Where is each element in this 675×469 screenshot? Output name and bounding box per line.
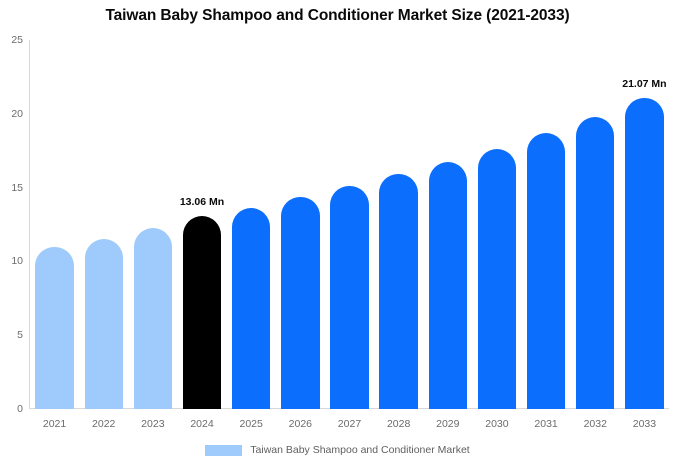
page-title: Taiwan Baby Shampoo and Conditioner Mark… [0,7,675,25]
x-tick-label: 2024 [190,418,213,430]
bar-group: 2030 [478,40,516,409]
x-tick-label: 2033 [633,418,656,430]
bar-group: 2029 [429,40,467,409]
y-tick-label: 15 [11,182,23,194]
y-tick-label: 25 [11,34,23,46]
legend-label: Taiwan Baby Shampoo and Conditioner Mark… [250,444,469,456]
bar-group: 2023 [134,40,172,409]
plot-area: 0510152025 20212022202313.06 Mn202420252… [29,40,669,409]
bar-group: 2031 [527,40,565,409]
bar-group: 13.06 Mn2024 [183,40,221,409]
bar[interactable] [232,208,270,409]
x-tick-label: 2023 [141,418,164,430]
x-tick-label: 2031 [534,418,557,430]
bar-group: 2022 [85,40,123,409]
bar-group: 2028 [379,40,417,409]
legend-entry[interactable]: Taiwan Baby Shampoo and Conditioner Mark… [205,444,469,456]
bar-chart: Taiwan Baby Shampoo and Conditioner Mark… [0,0,675,469]
bar-group: 2032 [576,40,614,409]
bar-group: 2027 [330,40,368,409]
bar[interactable] [134,228,172,409]
bar-group: 2025 [232,40,270,409]
x-tick-label: 2029 [436,418,459,430]
x-tick-label: 2028 [387,418,410,430]
bar-group: 21.07 Mn2033 [625,40,663,409]
x-tick-label: 2022 [92,418,115,430]
bar[interactable] [429,162,467,409]
bar[interactable] [281,197,319,409]
bar[interactable] [625,98,663,409]
y-tick-label: 0 [17,403,23,415]
bar[interactable] [330,186,368,409]
legend-swatch [205,445,242,456]
x-tick-label: 2030 [485,418,508,430]
y-tick-label: 5 [17,329,23,341]
bar[interactable] [379,174,417,409]
bar[interactable] [35,247,73,409]
bar[interactable] [85,239,123,409]
bar-value-label: 21.07 Mn [622,78,666,90]
chart-legend: Taiwan Baby Shampoo and Conditioner Mark… [0,444,675,456]
x-tick-label: 2032 [584,418,607,430]
bar[interactable] [478,149,516,410]
x-tick-label: 2027 [338,418,361,430]
bar-group: 2026 [281,40,319,409]
bar-value-label: 13.06 Mn [180,196,224,208]
bar[interactable] [576,117,614,409]
bar-group: 2021 [35,40,73,409]
y-tick-label: 20 [11,108,23,120]
bar[interactable] [527,133,565,409]
x-tick-label: 2025 [239,418,262,430]
x-tick-label: 2021 [43,418,66,430]
bar[interactable] [183,216,221,409]
y-tick-label: 10 [11,255,23,267]
bars-layer: 20212022202313.06 Mn20242025202620272028… [30,40,669,409]
x-tick-label: 2026 [289,418,312,430]
